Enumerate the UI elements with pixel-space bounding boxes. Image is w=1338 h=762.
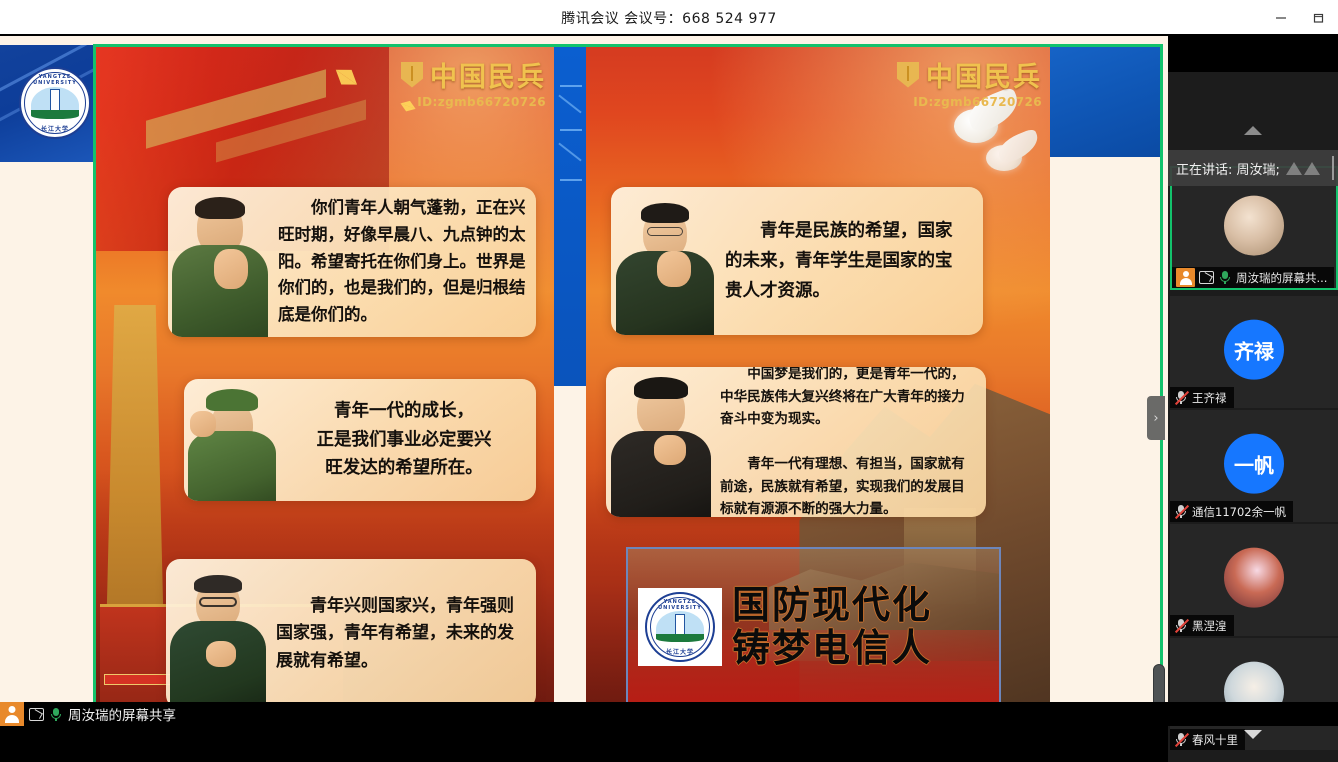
- quote-text: 你们青年人朝气蓬勃，正在兴旺时期，好像早晨八、九点钟的太阳。希望寄托在你们身上。…: [272, 195, 536, 329]
- presenter-desktop-right-strip: [1050, 47, 1163, 157]
- participant-tile[interactable]: 黑涅湟: [1170, 524, 1338, 636]
- university-seal-icon: YANGTZE UNIVERSITY 长江大学: [645, 592, 715, 662]
- window-titlebar: 腾讯会议 会议号：668 524 977: [0, 0, 1338, 35]
- presenter-desktop-fill-right: [1050, 157, 1163, 726]
- quote-card: 青年一代的成长， 正是我们事业必定要兴 旺发达的希望所在。: [184, 379, 536, 501]
- presenter-desktop-fill: [0, 162, 93, 184]
- seal-text-bottom: 长江大学: [21, 124, 89, 133]
- screen-share-icon: [29, 708, 44, 721]
- avatar-initials: 齐禄: [1234, 335, 1274, 364]
- participant-name: 通信11702余一帆: [1192, 504, 1286, 520]
- portrait-mao-icon: [168, 195, 272, 337]
- quote-card: 青年是民族的希望，国家的未来，青年学生是国家的宝贵人才资源。: [611, 187, 983, 335]
- quote-text: 青年是民族的希望，国家的未来，青年学生是国家的宝贵人才资源。: [719, 216, 983, 306]
- quote-text: 中国梦是我们的，更是青年一代的，中华民族伟大复兴终将在广大青年的接力奋斗中变为现…: [716, 367, 986, 517]
- speaking-tooltip-text: 正在讲话: 周汝瑞;: [1176, 159, 1280, 178]
- participant-name: 周汝瑞的屏幕共...: [1236, 270, 1327, 286]
- slide-divider-fill: [554, 386, 586, 726]
- rail-scroll-down-button[interactable]: [1168, 724, 1338, 744]
- quote-card: 中国梦是我们的，更是青年一代的，中华民族伟大复兴终将在广大青年的接力奋斗中变为现…: [606, 367, 986, 517]
- avatar: [1224, 196, 1284, 256]
- avatar: [1224, 548, 1284, 608]
- poster-left: 中国民兵 ID:zgmb66720726 你们青年人朝气蓬勃，正在兴旺时期，好像…: [96, 47, 554, 726]
- screen-share-icon: [1199, 271, 1214, 284]
- seal-text-top: YANGTZE UNIVERSITY: [21, 74, 89, 86]
- host-icon: [0, 702, 24, 726]
- microphone-muted-icon: [1174, 504, 1188, 519]
- quote-paragraph: 青年一代有理想、有担当，国家就有前途，民族就有希望，实现我们的发展目标就有源源不…: [720, 453, 972, 517]
- dove-icon: [986, 145, 1022, 171]
- slide-title-banner: YANGTZE UNIVERSITY 长江大学 国防现代化 铸梦电信人: [626, 547, 1001, 707]
- banner-title-text: 国防现代化 铸梦电信人: [732, 584, 989, 669]
- shared-slide: 中国民兵 ID:zgmb66720726 你们青年人朝气蓬勃，正在兴旺时期，好像…: [96, 47, 1160, 726]
- collapse-panel-button[interactable]: ›: [1147, 396, 1165, 440]
- participant-namebar: 通信11702余一帆: [1170, 501, 1293, 522]
- chevron-up-icon: [1244, 126, 1262, 135]
- quote-paragraph: 中国梦是我们的，更是青年一代的，中华民族伟大复兴终将在广大青年的接力奋斗中变为现…: [720, 367, 972, 431]
- microphone-icon: [1218, 270, 1232, 285]
- microphone-muted-icon: [1174, 618, 1188, 633]
- microphone-icon: [49, 707, 63, 722]
- taskbar-share-entry[interactable]: 周汝瑞的屏幕共享: [0, 702, 176, 726]
- window-controls: [1270, 0, 1330, 35]
- avatar: 一帆: [1224, 434, 1284, 494]
- avatar: 齐禄: [1224, 320, 1284, 380]
- taskbar: 周汝瑞的屏幕共享: [0, 702, 1338, 726]
- participant-name: 王齐禄: [1192, 390, 1227, 406]
- banner-logo: YANGTZE UNIVERSITY 长江大学: [638, 588, 722, 666]
- participant-tile[interactable]: 一帆 通信11702余一帆: [1170, 410, 1338, 522]
- participant-name: 黑涅湟: [1192, 618, 1227, 634]
- portrait-xi-icon: [606, 373, 716, 517]
- quote-card: 青年兴则国家兴，青年强则国家强，青年有希望，未来的发展就有希望。: [166, 559, 536, 709]
- portrait-deng-icon: [184, 383, 280, 501]
- shared-screen-frame: 中国民兵 ID:zgmb66720726 你们青年人朝气蓬勃，正在兴旺时期，好像…: [93, 44, 1163, 726]
- quote-card: 你们青年人朝气蓬勃，正在兴旺时期，好像早晨八、九点钟的太阳。希望寄托在你们身上。…: [168, 187, 536, 337]
- presenter-desktop-left-strip: YANGTZE UNIVERSITY 长江大学: [0, 45, 93, 162]
- speaking-tooltip: 正在讲话: 周汝瑞;: [1168, 150, 1338, 186]
- microphone-muted-icon: [1174, 390, 1188, 405]
- university-seal-icon: YANGTZE UNIVERSITY 长江大学: [19, 67, 91, 139]
- participant-namebar: 王齐禄: [1170, 387, 1234, 408]
- rail-scroll-up-button[interactable]: [1168, 120, 1338, 140]
- avatar-initials: 一帆: [1234, 449, 1274, 478]
- meeting-stage: YANGTZE UNIVERSITY 长江大学: [0, 36, 1338, 726]
- participant-namebar: 周汝瑞的屏幕共...: [1172, 267, 1334, 288]
- audio-wave-icon: [1286, 162, 1320, 175]
- portrait-jiang-icon: [166, 567, 270, 709]
- taskbar-label: 周汝瑞的屏幕共享: [68, 704, 176, 724]
- chevron-down-icon: [1244, 730, 1262, 739]
- quote-text: 青年兴则国家兴，青年强则国家强，青年有希望，未来的发展就有希望。: [270, 593, 536, 676]
- host-icon: [1176, 268, 1195, 287]
- tooltip-edge: [1332, 156, 1334, 180]
- participant-tile[interactable]: 齐禄 王齐禄: [1170, 296, 1338, 408]
- window-title: 腾讯会议 会议号：668 524 977: [561, 8, 777, 28]
- minimize-icon[interactable]: [1270, 7, 1292, 29]
- dove-icon: [954, 109, 998, 143]
- quote-text: 青年一代的成长， 正是我们事业必定要兴 旺发达的希望所在。: [280, 397, 536, 483]
- seal-text-bottom: 长江大学: [647, 647, 713, 656]
- participant-namebar: 黑涅湟: [1170, 615, 1234, 636]
- portrait-hu-icon: [611, 195, 719, 335]
- seal-text-top: YANGTZE UNIVERSITY: [647, 599, 713, 611]
- restore-icon[interactable]: [1308, 7, 1330, 29]
